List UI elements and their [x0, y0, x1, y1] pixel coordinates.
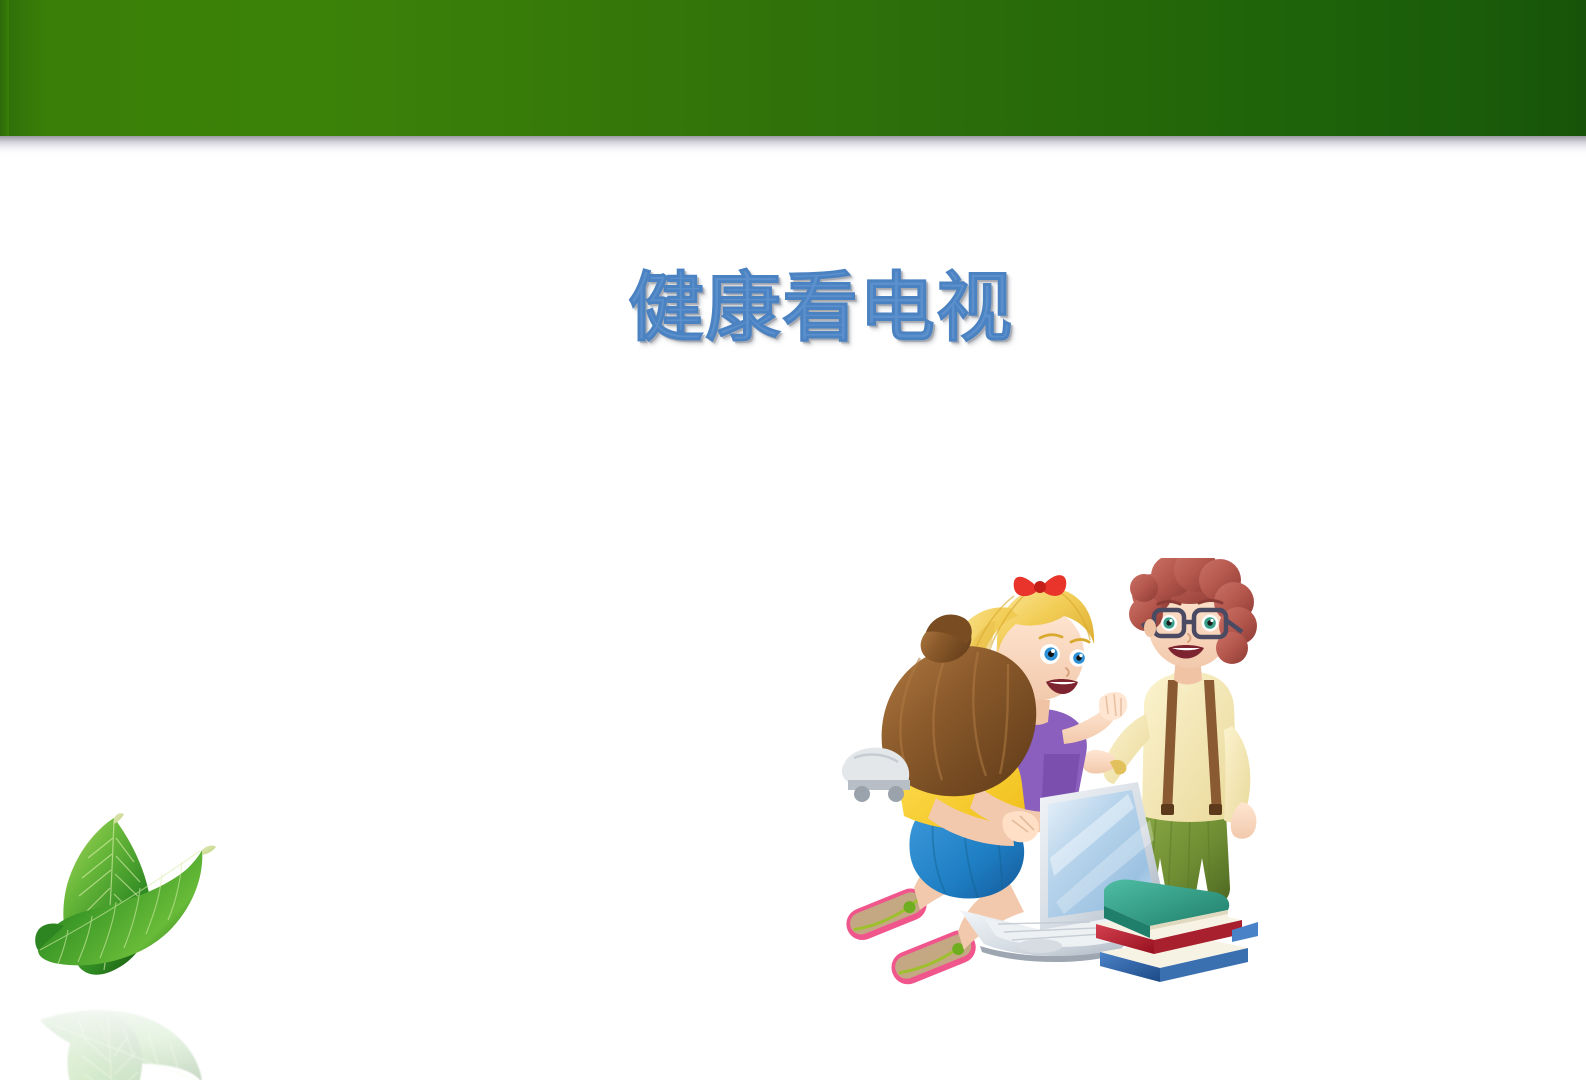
page-title: 健康看电视 — [628, 262, 1328, 362]
book-stack — [1096, 879, 1258, 982]
presentation-slide: 健康看电视 — [0, 0, 1586, 1080]
blonde-girl-bow — [1014, 575, 1067, 596]
header-left-edge-accent — [0, 0, 9, 136]
roller-skate — [842, 748, 910, 802]
header-banner — [0, 0, 1586, 136]
boy-shirt — [1142, 672, 1238, 822]
blonde-girl-hand — [1099, 692, 1127, 720]
leaf-icon — [30, 810, 260, 980]
header-drop-shadow — [0, 136, 1586, 158]
leaf-reflection-icon — [30, 972, 260, 1080]
page-title-text: 健康看电视 — [628, 262, 1328, 354]
children-illustration — [828, 558, 1288, 1006]
leaf-decoration — [30, 810, 260, 1078]
